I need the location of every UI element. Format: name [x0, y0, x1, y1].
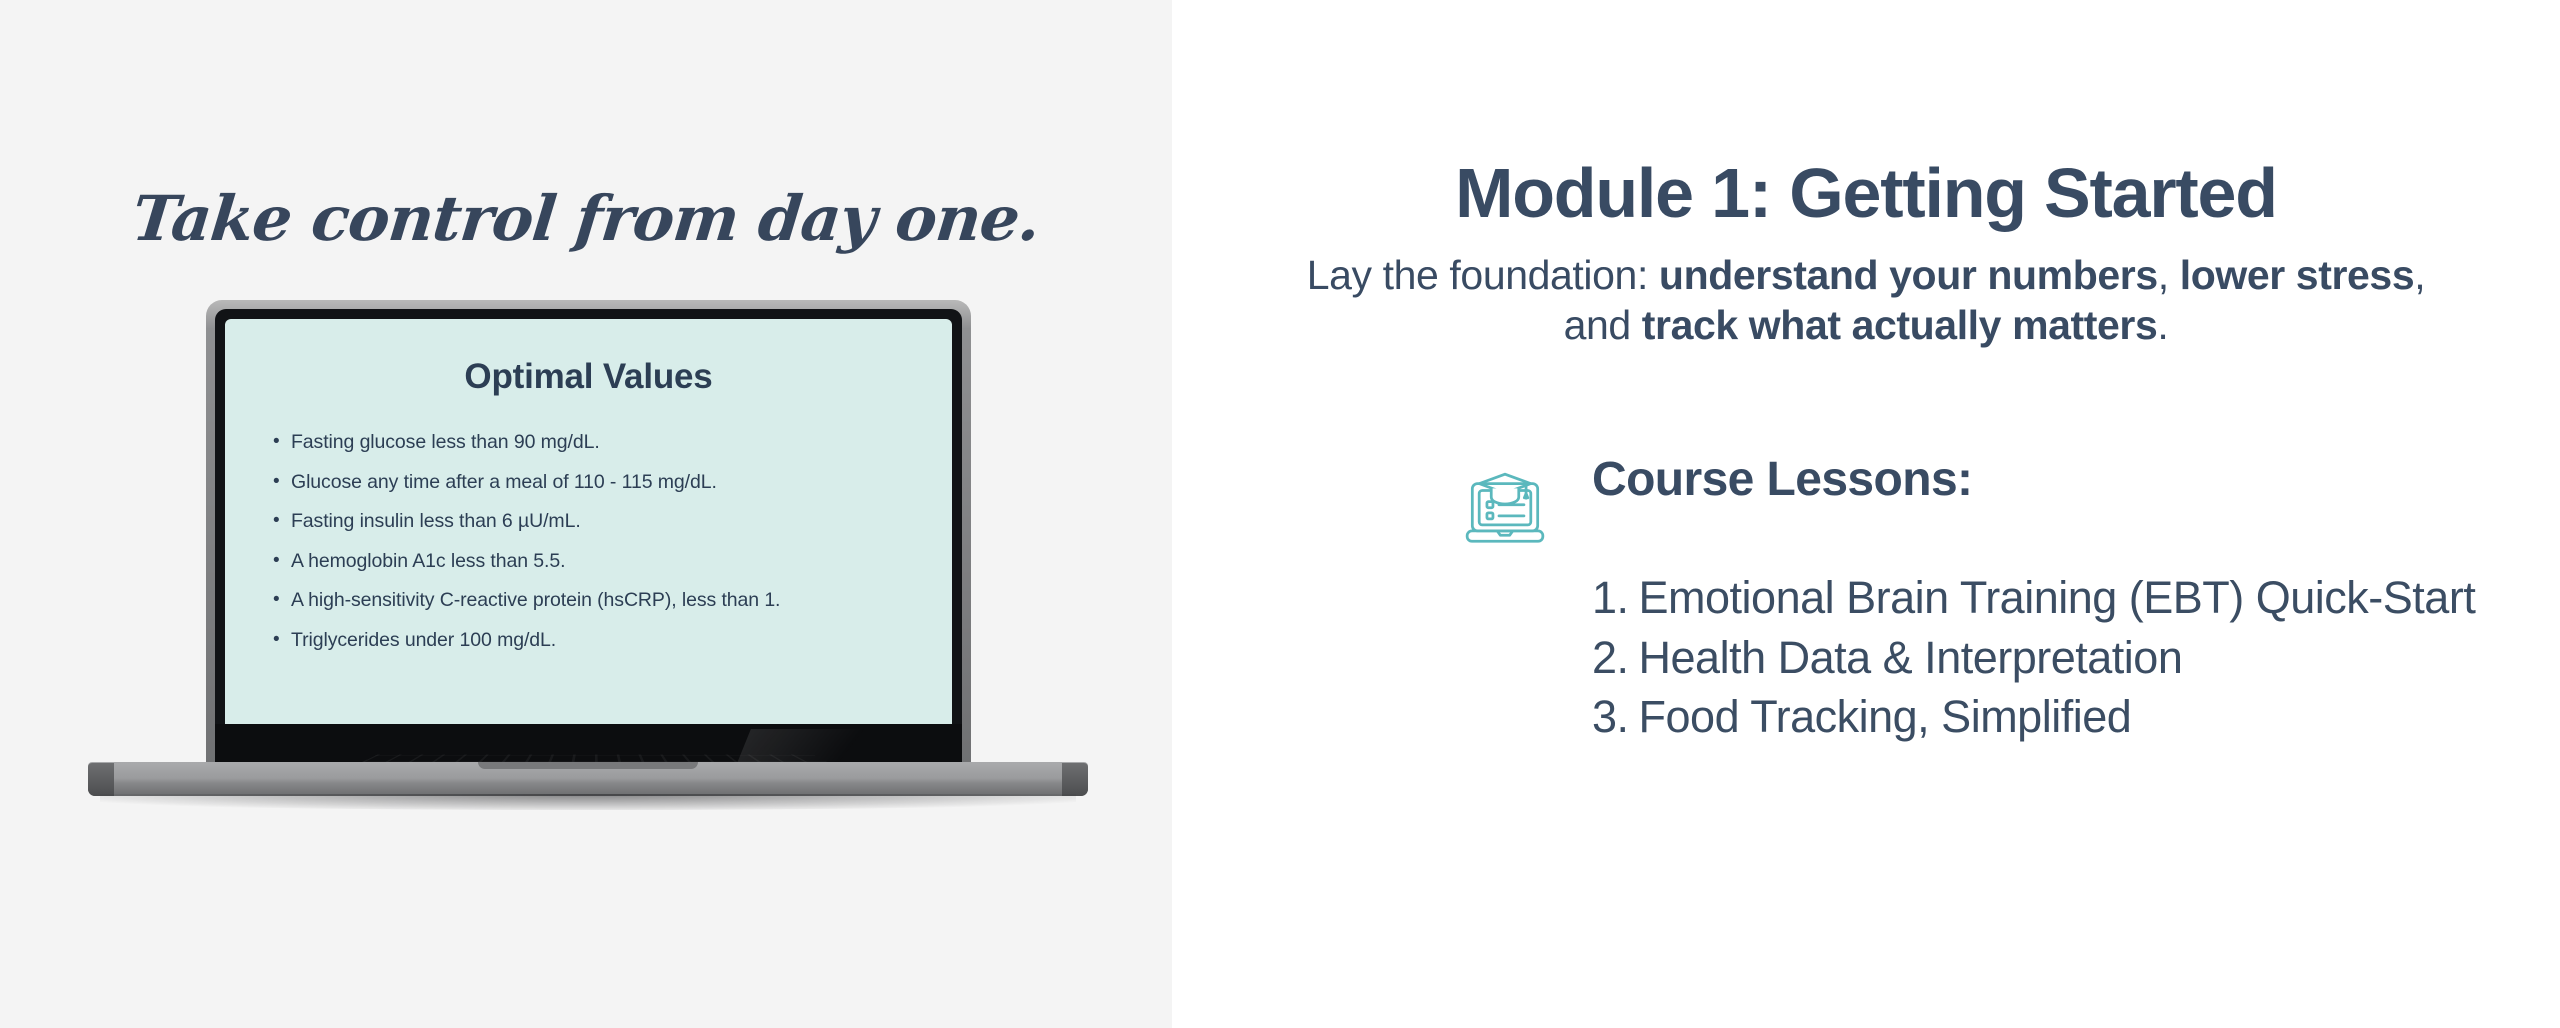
- lesson-number: 1.: [1592, 569, 1629, 627]
- lessons-heading: Course Lessons:: [1592, 455, 1972, 505]
- list-item: 3. Food Tracking, Simplified: [1592, 688, 2560, 746]
- lesson-number: 2.: [1592, 629, 1629, 687]
- base-cap-left: [88, 763, 114, 796]
- list-item: A high-sensitivity C-reactive protein (h…: [273, 591, 952, 611]
- left-panel: Take control from day one. Optimal Value…: [0, 0, 1172, 1028]
- module-title: Module 1: Getting Started: [1172, 0, 2560, 228]
- subtitle-bold-3: track what actually matters: [1642, 302, 2158, 348]
- subtitle-part-1: Lay the foundation:: [1307, 252, 1659, 298]
- lessons-block: Course Lessons: 1. Emotional Brain Train…: [1172, 455, 2560, 748]
- list-item: Fasting insulin less than 6 µU/mL.: [273, 512, 952, 532]
- lesson-list: 1. Emotional Brain Training (EBT) Quick-…: [1172, 569, 2560, 746]
- lesson-label: Health Data & Interpretation: [1639, 629, 2183, 687]
- laptop-bezel: Optimal Values Fasting glucose less than…: [215, 309, 962, 779]
- subtitle-part-2: ,: [2158, 252, 2180, 298]
- laptop-graduation-cap-icon: [1462, 469, 1548, 555]
- laptop-lid: Optimal Values Fasting glucose less than…: [206, 300, 971, 778]
- lessons-header: Course Lessons:: [1172, 455, 2560, 555]
- screen-title: Optimal Values: [225, 357, 952, 397]
- laptop-mockup: Optimal Values Fasting glucose less than…: [88, 300, 1088, 820]
- laptop-shadow: [100, 794, 1076, 810]
- lesson-label: Emotional Brain Training (EBT) Quick-Sta…: [1639, 569, 2476, 627]
- list-item: A hemoglobin A1c less than 5.5.: [273, 552, 952, 572]
- list-item: Glucose any time after a meal of 110 - 1…: [273, 473, 952, 493]
- list-item: Fasting glucose less than 90 mg/dL.: [273, 433, 952, 453]
- right-panel: Module 1: Getting Started Lay the founda…: [1172, 0, 2560, 1028]
- subtitle-bold-1: understand your numbers: [1659, 252, 2158, 298]
- module-subtitle: Lay the foundation: understand your numb…: [1172, 250, 2560, 350]
- slide-root: Take control from day one. Optimal Value…: [0, 0, 2560, 1028]
- laptop-base: [88, 762, 1088, 796]
- base-notch: [478, 762, 698, 769]
- list-item: Triglycerides under 100 mg/dL.: [273, 631, 952, 651]
- script-headline: Take control from day one.: [0, 182, 1176, 255]
- list-item: 2. Health Data & Interpretation: [1592, 629, 2560, 687]
- subtitle-part-4: .: [2157, 302, 2168, 348]
- lesson-number: 3.: [1592, 688, 1629, 746]
- subtitle-bold-2: lower stress: [2180, 252, 2415, 298]
- base-cap-right: [1062, 763, 1088, 796]
- list-item: 1. Emotional Brain Training (EBT) Quick-…: [1592, 569, 2560, 627]
- optimal-values-list: Fasting glucose less than 90 mg/dL. Gluc…: [225, 433, 952, 650]
- lesson-label: Food Tracking, Simplified: [1639, 688, 2132, 746]
- laptop-screen: Optimal Values Fasting glucose less than…: [225, 319, 952, 724]
